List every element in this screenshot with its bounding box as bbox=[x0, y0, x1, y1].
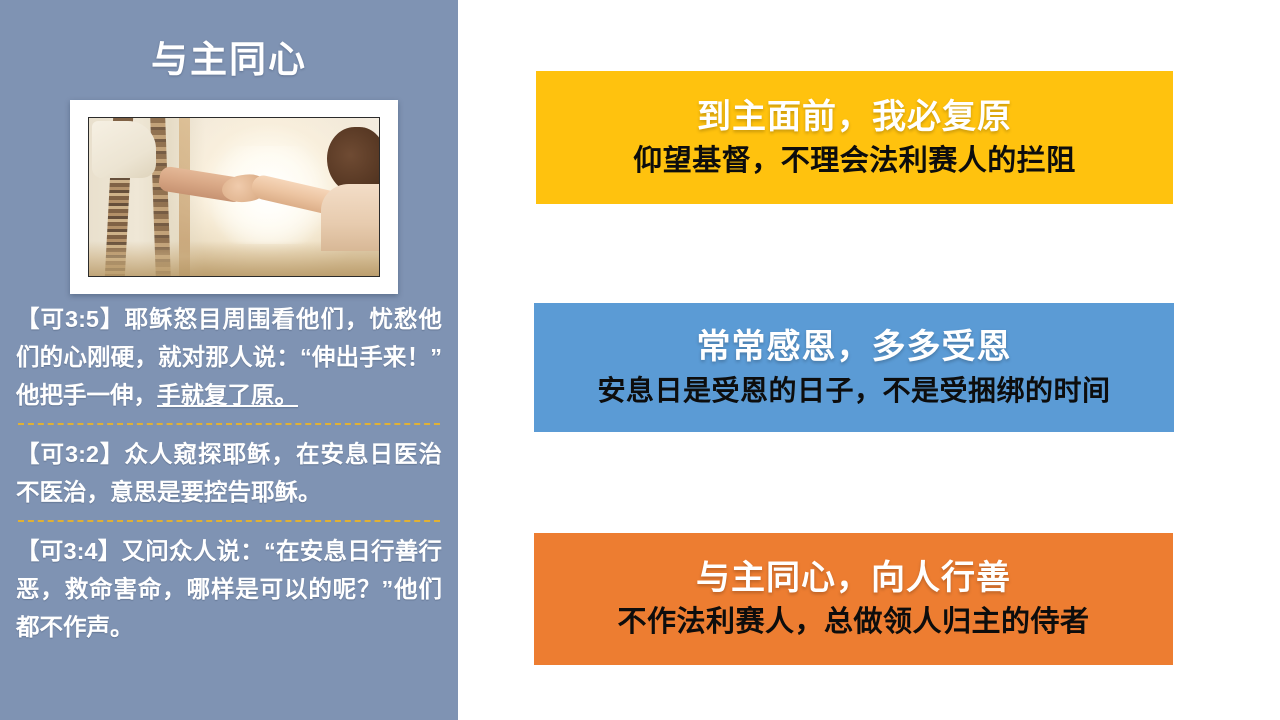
sleeve-shape bbox=[92, 121, 156, 178]
list-item: 【可3:4】又问众人说：“在安息日行善行恶，救命害命，哪样是可以的呢？”他们都不… bbox=[0, 532, 458, 646]
banner-headline: 与主同心，向人行善 bbox=[696, 558, 1011, 598]
banner-thanksgiving: 常常感恩，多多受恩 安息日是受恩的日子，不是受捆绑的时间 bbox=[534, 303, 1174, 432]
banner-restoration: 到主面前，我必复原 仰望基督，不理会法利赛人的拦阻 bbox=[536, 71, 1173, 204]
page-title: 与主同心 bbox=[0, 40, 458, 81]
jesus-helping-hand-photo bbox=[88, 117, 380, 277]
divider bbox=[18, 520, 440, 522]
photo-frame bbox=[70, 100, 398, 294]
banner-good-works: 与主同心，向人行善 不作法利赛人，总做领人归主的侍者 bbox=[534, 533, 1173, 665]
divider bbox=[18, 423, 440, 425]
verse-text: 【可3:2】众人窥探耶稣，在安息日医治不医治，意思是要控告耶稣。 bbox=[16, 441, 442, 505]
slide-canvas: 与主同心 【可3:5】耶稣怒目周围看他们，忧愁他们的心刚硬，就对那人说：“伸出手… bbox=[0, 0, 1280, 720]
scripture-list: 【可3:5】耶稣怒目周围看他们，忧愁他们的心刚硬，就对那人说：“伸出手来！”他把… bbox=[0, 300, 458, 646]
list-item: 【可3:2】众人窥探耶稣，在安息日医治不医治，意思是要控告耶稣。 bbox=[0, 435, 458, 511]
banner-subline: 仰望基督，不理会法利赛人的拦阻 bbox=[633, 144, 1076, 179]
banner-headline: 到主面前，我必复原 bbox=[697, 97, 1012, 137]
sidebar-panel: 与主同心 【可3:5】耶稣怒目周围看他们，忧愁他们的心刚硬，就对那人说：“伸出手… bbox=[0, 0, 458, 720]
list-item: 【可3:5】耶稣怒目周围看他们，忧愁他们的心刚硬，就对那人说：“伸出手来！”他把… bbox=[0, 300, 458, 414]
person-shoulder-shape bbox=[321, 184, 380, 250]
verse-emphasis: 手就复了原。 bbox=[157, 382, 298, 408]
banner-headline: 常常感恩，多多受恩 bbox=[697, 327, 1012, 367]
banner-subline: 不作法利赛人，总做领人归主的侍者 bbox=[617, 605, 1089, 640]
banner-subline: 安息日是受恩的日子，不是受捆绑的时间 bbox=[597, 374, 1110, 408]
verse-text: 【可3:4】又问众人说：“在安息日行善行恶，救命害命，哪样是可以的呢？”他们都不… bbox=[16, 538, 442, 640]
